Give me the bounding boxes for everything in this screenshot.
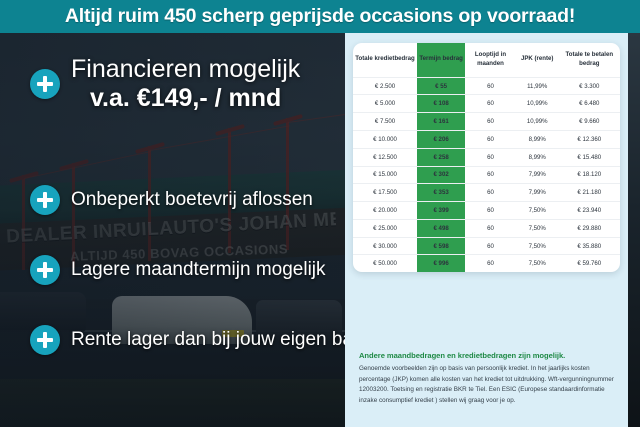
disclaimer-body: Genoemde voorbeelden zijn op basis van p… [359, 364, 615, 406]
disclaimer-title: Andere maandbedragen en kredietbedragen … [359, 351, 615, 360]
benefit-item-lagere-maandtermijn: Lagere maandtermijn mogelijk [30, 255, 326, 285]
cell-jkp: 7,50% [516, 219, 559, 237]
table-row: € 7.500 € 161 60 10,99% € 9.660 [353, 113, 620, 131]
headline-line-2: v.a. €149,- / mnd [71, 83, 300, 113]
benefit-label: Lagere maandtermijn mogelijk [71, 259, 326, 281]
headline-line-1: Financieren mogelijk [71, 55, 300, 83]
table-row: € 5.000 € 108 60 10,99% € 6.480 [353, 95, 620, 113]
table-row: € 50.000 € 996 60 7,50% € 59.760 [353, 255, 620, 272]
plus-icon [30, 69, 60, 99]
cell-jkp: 10,99% [516, 95, 559, 113]
cell-termijn: € 498 [417, 219, 465, 237]
promo-poster: DEALER INRUILAUTO'S JOHAN MEURE ALTIJD 4… [0, 0, 640, 427]
plus-icon [30, 325, 60, 355]
cell-looptijd: 60 [465, 166, 516, 184]
plus-icon [30, 185, 60, 215]
cell-termijn: € 399 [417, 202, 465, 220]
cell-looptijd: 60 [465, 219, 516, 237]
financing-headline: Financieren mogelijk v.a. €149,- / mnd [71, 55, 300, 113]
cell-totaal: € 18.120 [559, 166, 620, 184]
cell-totaal: € 3.300 [559, 77, 620, 95]
cell-looptijd: 60 [465, 202, 516, 220]
cell-krediet: € 10.000 [353, 131, 417, 149]
cell-krediet: € 17.500 [353, 184, 417, 202]
cell-totaal: € 15.480 [559, 148, 620, 166]
cell-krediet: € 7.500 [353, 113, 417, 131]
cell-krediet: € 25.000 [353, 219, 417, 237]
cell-looptijd: 60 [465, 184, 516, 202]
benefit-item-lagere-rente: Rente lager dan bij jouw eigen bank [30, 325, 373, 355]
right-photo-edge [628, 33, 640, 427]
cell-jkp: 7,50% [516, 255, 559, 272]
cell-jkp: 7,50% [516, 237, 559, 255]
cell-termijn: € 258 [417, 148, 465, 166]
table-header-row: Totale kredietbedrag Termijn bedrag Loop… [353, 43, 620, 77]
cell-looptijd: 60 [465, 131, 516, 149]
rates-table-card: Totale kredietbedrag Termijn bedrag Loop… [353, 43, 620, 272]
cell-krediet: € 15.000 [353, 166, 417, 184]
cell-looptijd: 60 [465, 237, 516, 255]
top-banner: Altijd ruim 450 scherp geprijsde occasio… [0, 0, 640, 33]
cell-jkp: 10,99% [516, 113, 559, 131]
cell-totaal: € 9.660 [559, 113, 620, 131]
cell-termijn: € 206 [417, 131, 465, 149]
table-row: € 17.500 € 353 60 7,99% € 21.180 [353, 184, 620, 202]
cell-krediet: € 12.500 [353, 148, 417, 166]
cell-termijn: € 996 [417, 255, 465, 272]
cell-termijn: € 161 [417, 113, 465, 131]
cell-looptijd: 60 [465, 77, 516, 95]
plus-icon [30, 255, 60, 285]
cell-totaal: € 29.880 [559, 219, 620, 237]
cell-krediet: € 20.000 [353, 202, 417, 220]
benefit-label: Rente lager dan bij jouw eigen bank [71, 329, 373, 351]
cell-jkp: 7,99% [516, 166, 559, 184]
table-row: € 25.000 € 498 60 7,50% € 29.880 [353, 219, 620, 237]
cell-totaal: € 6.480 [559, 95, 620, 113]
table-row: € 15.000 € 302 60 7,99% € 18.120 [353, 166, 620, 184]
cell-termijn: € 302 [417, 166, 465, 184]
cell-termijn: € 353 [417, 184, 465, 202]
cell-jkp: 8,99% [516, 131, 559, 149]
cell-jkp: 7,50% [516, 202, 559, 220]
benefit-item-financing: Financieren mogelijk v.a. €149,- / mnd [30, 55, 300, 113]
cell-krediet: € 50.000 [353, 255, 417, 272]
cell-looptijd: 60 [465, 95, 516, 113]
column-header-looptijd: Looptijd in maanden [465, 43, 516, 77]
cell-looptijd: 60 [465, 148, 516, 166]
banner-headline: Altijd ruim 450 scherp geprijsde occasio… [65, 5, 575, 28]
benefits-list: Financieren mogelijk v.a. €149,- / mnd O… [0, 33, 345, 427]
column-header-totaal: Totale te betalen bedrag [559, 43, 620, 77]
table-row: € 10.000 € 206 60 8,99% € 12.360 [353, 131, 620, 149]
column-header-krediet: Totale kredietbedrag [353, 43, 417, 77]
cell-krediet: € 2.500 [353, 77, 417, 95]
cell-krediet: € 5.000 [353, 95, 417, 113]
cell-termijn: € 55 [417, 77, 465, 95]
rates-panel: Totale kredietbedrag Termijn bedrag Loop… [345, 33, 628, 427]
cell-totaal: € 35.880 [559, 237, 620, 255]
column-header-termijn: Termijn bedrag [417, 43, 465, 77]
cell-looptijd: 60 [465, 113, 516, 131]
cell-looptijd: 60 [465, 255, 516, 272]
cell-jkp: 11,99% [516, 77, 559, 95]
cell-totaal: € 21.180 [559, 184, 620, 202]
cell-totaal: € 59.760 [559, 255, 620, 272]
column-header-jkp: JPK (rente) [516, 43, 559, 77]
table-row: € 2.500 € 55 60 11,99% € 3.300 [353, 77, 620, 95]
table-row: € 30.000 € 598 60 7,50% € 35.880 [353, 237, 620, 255]
table-row: € 12.500 € 258 60 8,99% € 15.480 [353, 148, 620, 166]
cell-termijn: € 108 [417, 95, 465, 113]
cell-totaal: € 23.940 [559, 202, 620, 220]
rates-table: Totale kredietbedrag Termijn bedrag Loop… [353, 43, 620, 272]
benefit-label: Onbeperkt boetevrij aflossen [71, 189, 313, 211]
table-row: € 20.000 € 399 60 7,50% € 23.940 [353, 202, 620, 220]
benefit-item-boetevrij-aflossen: Onbeperkt boetevrij aflossen [30, 185, 313, 215]
cell-jkp: 8,99% [516, 148, 559, 166]
cell-termijn: € 598 [417, 237, 465, 255]
cell-totaal: € 12.360 [559, 131, 620, 149]
cell-krediet: € 30.000 [353, 237, 417, 255]
cell-jkp: 7,99% [516, 184, 559, 202]
